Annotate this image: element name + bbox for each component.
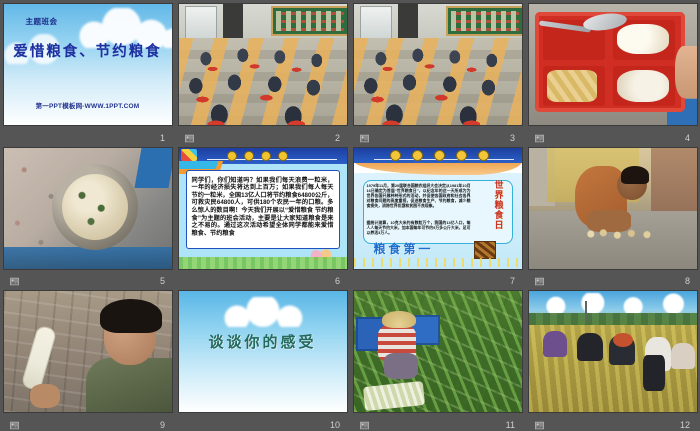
farmer-legs bbox=[384, 353, 418, 379]
blue-object bbox=[134, 148, 172, 188]
vegetable-bits bbox=[64, 178, 124, 236]
slide-number-7: 7 bbox=[510, 276, 515, 286]
slide-thumbnail-11[interactable] bbox=[354, 291, 522, 412]
leftover-rice bbox=[617, 70, 669, 102]
slide-cell-11[interactable]: 11 bbox=[350, 287, 525, 431]
brown-wall bbox=[651, 148, 697, 214]
slide-number-9: 9 bbox=[160, 420, 165, 430]
vertical-title: 世界粮食日 bbox=[489, 180, 504, 230]
slide-cell-6[interactable]: 同学们，你们知道吗？如果我们每天浪费一粒米，一年的经济损失将达到上百万；如果我们… bbox=[175, 144, 350, 288]
slide-thumbnail-9[interactable] bbox=[4, 291, 172, 412]
image-icon bbox=[185, 134, 194, 143]
child-hair bbox=[621, 166, 649, 184]
slide-thumbnail-10[interactable]: 谈谈你的感受 bbox=[179, 291, 347, 412]
slide-number-3: 3 bbox=[510, 133, 515, 143]
slide-thumbnail-12[interactable] bbox=[529, 291, 697, 412]
door bbox=[223, 4, 243, 38]
slide-thumbnail-5[interactable] bbox=[4, 148, 172, 269]
slide-cell-2[interactable]: 2 bbox=[175, 0, 350, 144]
grass-decoration bbox=[179, 257, 347, 269]
image-icon bbox=[535, 134, 544, 143]
slide-cell-1[interactable]: 主题班会 爱惜粮食、节约粮食 第一PPT模板网-WWW.1PPT.COM 1 bbox=[0, 0, 175, 144]
boy-hand bbox=[30, 384, 60, 408]
paragraph-1: 1979年11月，第20届联合国粮农组织大会决定从1981年10月16日确定为首… bbox=[367, 183, 471, 208]
image-icon bbox=[535, 277, 544, 286]
slide-number-12: 12 bbox=[680, 420, 690, 430]
slide-cell-9[interactable]: 9 bbox=[0, 287, 175, 431]
food-scraps bbox=[583, 228, 661, 240]
slide-cell-8[interactable]: 8 bbox=[525, 144, 700, 288]
slide-thumbnail-1[interactable]: 主题班会 爱惜粮食、节约粮食 第一PPT模板网-WWW.1PPT.COM bbox=[4, 4, 172, 125]
image-icon bbox=[360, 421, 369, 430]
slide-thumbnail-6[interactable]: 同学们，你们知道吗？如果我们每天浪费一粒米，一年的经济损失将达到上百万；如果我们… bbox=[179, 148, 347, 269]
slide-number-8: 8 bbox=[685, 276, 690, 286]
slide-thumbnail-8[interactable] bbox=[529, 148, 697, 269]
farmer bbox=[671, 343, 695, 369]
door bbox=[398, 4, 418, 38]
cloud-decoration bbox=[213, 297, 309, 327]
straw-hat bbox=[382, 311, 416, 328]
slide-cell-12[interactable]: 12 bbox=[525, 287, 700, 431]
slide-cell-3[interactable]: 3 bbox=[350, 0, 525, 144]
slide-thumbnail-2[interactable] bbox=[179, 4, 347, 125]
slide-number-4: 4 bbox=[685, 133, 690, 143]
star-border-decoration bbox=[354, 258, 522, 267]
slide-number-11: 11 bbox=[506, 420, 515, 430]
slide-thumbnail-7[interactable]: 1979年11月，第20届联合国粮农组织大会决定从1981年10月16日确定为首… bbox=[354, 148, 522, 269]
bulletin-board bbox=[446, 6, 522, 36]
boy-hair bbox=[100, 299, 162, 333]
slide-title: 谈谈你的感受 bbox=[179, 331, 347, 352]
farmer-shirt bbox=[613, 333, 633, 347]
leftover-rice bbox=[617, 24, 669, 54]
slide-thumbnail-4[interactable] bbox=[529, 4, 697, 125]
slide-number-6: 6 bbox=[335, 276, 340, 286]
slide-footer: 第一PPT模板网-WWW.1PPT.COM bbox=[4, 100, 172, 110]
slide-subtitle: 主题班会 bbox=[26, 16, 58, 27]
farmer bbox=[577, 333, 603, 361]
slide-cell-4[interactable]: 4 bbox=[525, 0, 700, 144]
slide-cell-7[interactable]: 1979年11月，第20届联合国粮农组织大会决定从1981年10月16日确定为首… bbox=[350, 144, 525, 288]
boy-coat bbox=[86, 358, 172, 412]
slide-number-1: 1 bbox=[160, 133, 165, 143]
lunch-trays bbox=[179, 40, 347, 125]
corner-decoration-icon bbox=[181, 149, 197, 161]
stamp-decoration bbox=[474, 241, 496, 259]
image-icon bbox=[535, 421, 544, 430]
slide-thumbnail-gallery: 主题班会 爱惜粮食、节约粮食 第一PPT模板网-WWW.1PPT.COM 1 2 bbox=[0, 0, 700, 431]
ribbon-decoration bbox=[179, 161, 218, 169]
slide-number-5: 5 bbox=[160, 276, 165, 286]
lunch-trays bbox=[354, 40, 522, 125]
slide-title: 爱惜粮食、节约粮食 bbox=[4, 40, 172, 61]
header-dots bbox=[227, 151, 288, 161]
blue-mat bbox=[4, 247, 172, 269]
farmer bbox=[543, 331, 567, 357]
image-icon bbox=[360, 134, 369, 143]
slide-number-2: 2 bbox=[335, 133, 340, 143]
utility-pole bbox=[585, 301, 587, 323]
slide-body-text: 同学们，你们知道吗？如果我们每天浪费一粒米，一年的经济损失将达到上百万；如果我们… bbox=[190, 174, 336, 247]
image-icon bbox=[10, 277, 19, 286]
window bbox=[360, 6, 392, 42]
slide-number-10: 10 bbox=[330, 420, 340, 430]
window bbox=[185, 6, 217, 42]
paragraph-2: 据统计测算，10克大米约有数粒万个，我国的13亿人口，每人人每天节约大米，加本国… bbox=[367, 220, 471, 235]
hand bbox=[675, 46, 697, 98]
bulletin-board bbox=[271, 6, 347, 36]
farmer-legs bbox=[643, 355, 665, 391]
leftover-tofu bbox=[547, 70, 597, 102]
cloud-decoration bbox=[529, 293, 697, 315]
image-icon bbox=[10, 421, 19, 430]
slide-cell-10[interactable]: 谈谈你的感受 10 bbox=[175, 287, 350, 431]
header-dots bbox=[390, 150, 489, 161]
slogan-text: 粮食第一 bbox=[374, 240, 434, 257]
treeline bbox=[529, 313, 697, 325]
slide-thumbnail-3[interactable] bbox=[354, 4, 522, 125]
slide-cell-5[interactable]: 5 bbox=[0, 144, 175, 288]
